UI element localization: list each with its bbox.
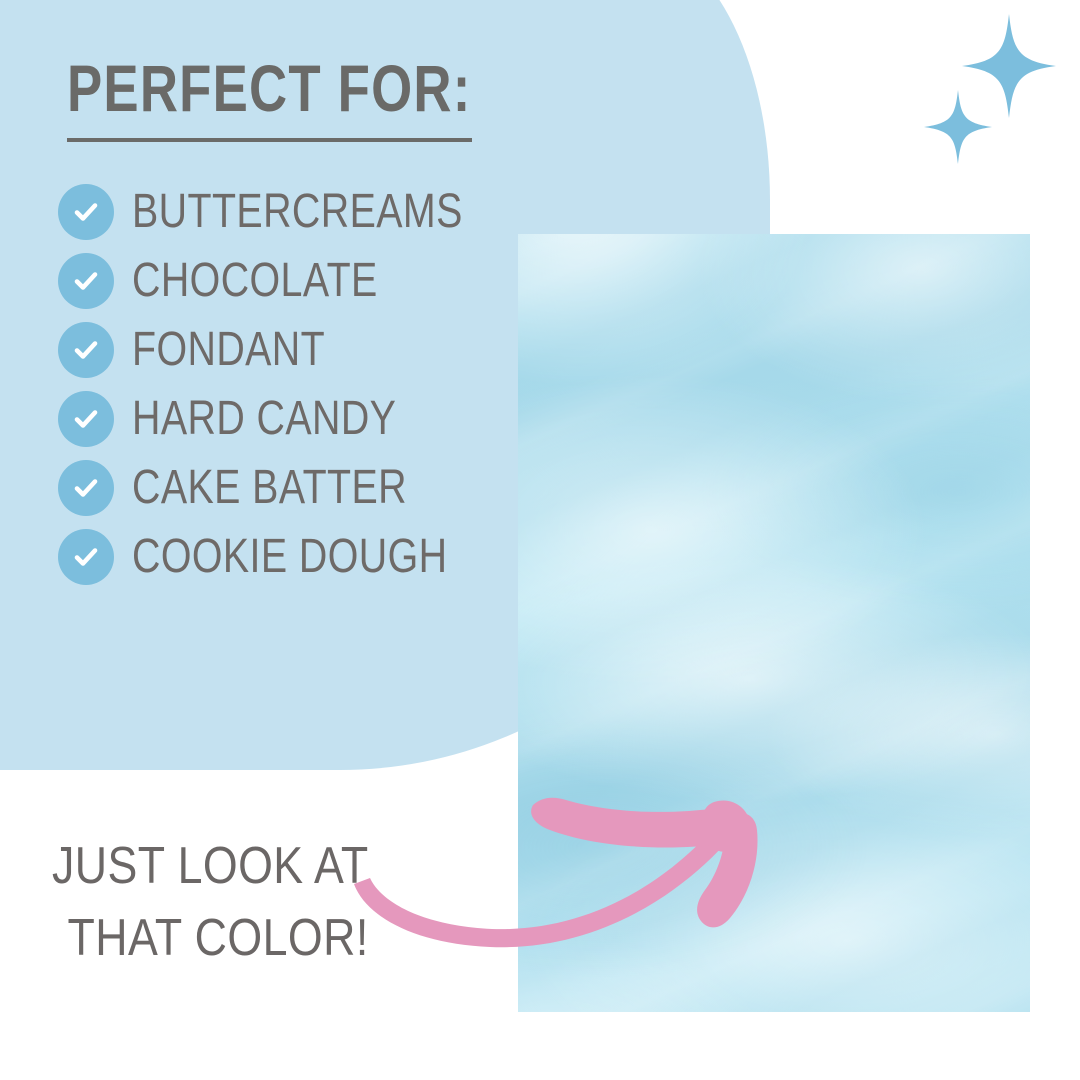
- check-icon: [58, 184, 114, 240]
- frosting-swirl-overlay: [518, 234, 1030, 1012]
- list-item: COOKIE DOUGH: [58, 529, 535, 585]
- list-item: HARD CANDY: [58, 391, 535, 447]
- list-item-label: HARD CANDY: [132, 394, 396, 444]
- list-item-label: CAKE BATTER: [132, 463, 407, 513]
- heading-underline-rule: [67, 138, 472, 142]
- check-icon: [58, 460, 114, 516]
- caption-line-2: THAT COLOR!: [52, 902, 344, 974]
- list-item: FONDANT: [58, 322, 535, 378]
- list-item-label: CHOCOLATE: [132, 256, 378, 306]
- list-item: BUTTERCREAMS: [58, 184, 535, 240]
- poster-canvas: PERFECT FOR: BUTTERCREAMS CHOCOLATE FOND…: [0, 0, 1080, 1080]
- list-item: CAKE BATTER: [58, 460, 535, 516]
- sparkle-decoration: [902, 12, 1080, 172]
- check-icon: [58, 322, 114, 378]
- page-title: PERFECT FOR:: [67, 52, 443, 124]
- check-icon: [58, 529, 114, 585]
- sparkle-small-icon: [924, 90, 992, 164]
- frosting-photo: [518, 234, 1030, 1012]
- caption-line-1: JUST LOOK AT: [52, 830, 344, 902]
- perfect-for-checklist: BUTTERCREAMS CHOCOLATE FONDANT HARD CAND…: [58, 184, 535, 598]
- list-item: CHOCOLATE: [58, 253, 535, 309]
- check-icon: [58, 253, 114, 309]
- sparkle-large-icon: [962, 14, 1056, 118]
- sparkle-group-icon: [902, 12, 1080, 172]
- heading-block: PERFECT FOR:: [67, 52, 537, 142]
- list-item-label: FONDANT: [132, 325, 325, 375]
- list-item-label: COOKIE DOUGH: [132, 532, 447, 582]
- list-item-label: BUTTERCREAMS: [132, 187, 463, 237]
- caption-block: JUST LOOK AT THAT COLOR!: [52, 830, 392, 974]
- check-icon: [58, 391, 114, 447]
